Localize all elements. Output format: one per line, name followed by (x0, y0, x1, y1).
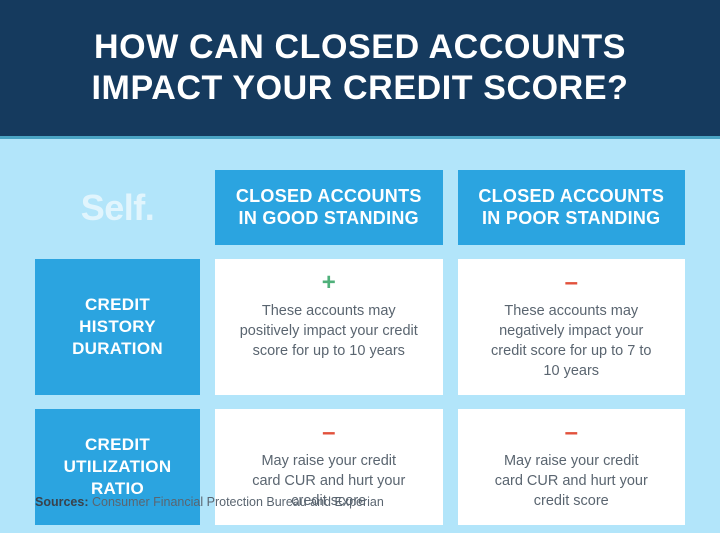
column-header-good-line-1: CLOSED ACCOUNTS (236, 186, 422, 208)
cell-r1c1-line-1: These accounts may (240, 301, 418, 321)
sources-label: Sources: (35, 495, 89, 509)
minus-icon: – (322, 421, 335, 445)
infographic-root: HOW CAN CLOSED ACCOUNTS IMPACT YOUR CRED… (0, 0, 720, 533)
banner-divider (0, 136, 720, 139)
table-header-row: Self. CLOSED ACCOUNTS IN GOOD STANDING C… (35, 170, 685, 245)
page-title: HOW CAN CLOSED ACCOUNTS IMPACT YOUR CRED… (68, 27, 653, 110)
cell-r1c2-line-2: negatively impact your (491, 321, 651, 341)
page-title-line-2: IMPACT YOUR CREDIT SCORE? (92, 68, 629, 109)
header-banner: HOW CAN CLOSED ACCOUNTS IMPACT YOUR CRED… (0, 0, 720, 136)
cell-r1c2-line-4: 10 years (491, 361, 651, 381)
column-header-poor-standing: CLOSED ACCOUNTS IN POOR STANDING (458, 170, 686, 245)
cell-history-poor-standing: – These accounts may negatively impact y… (458, 259, 686, 395)
column-header-good-line-2: IN GOOD STANDING (236, 208, 422, 230)
column-header-good-standing: CLOSED ACCOUNTS IN GOOD STANDING (215, 170, 443, 245)
minus-icon: – (565, 271, 578, 295)
table-row: CREDIT HISTORY DURATION + These accounts… (35, 259, 685, 395)
cell-history-good-standing: + These accounts may positively impact y… (215, 259, 443, 395)
cell-history-poor-standing-text: These accounts may negatively impact you… (491, 301, 651, 381)
cell-r2c2-line-2: card CUR and hurt your (495, 471, 648, 491)
brand-name: Self (81, 187, 145, 228)
cell-r2c2-line-1: May raise your credit (495, 451, 648, 471)
row-1-label-line-3: DURATION (72, 338, 163, 360)
cell-utilization-poor-standing-text: May raise your credit card CUR and hurt … (495, 451, 648, 511)
row-label-credit-history-duration-block: CREDIT HISTORY DURATION (35, 259, 200, 395)
row-2-label-line-2: UTILIZATION (64, 456, 172, 478)
column-header-poor-line-2: IN POOR STANDING (478, 208, 664, 230)
row-1-label-line-1: CREDIT (72, 294, 163, 316)
row-2-label-line-1: CREDIT (64, 434, 172, 456)
cell-utilization-poor-standing: – May raise your credit card CUR and hur… (458, 409, 686, 525)
cell-r2c1-line-2: card CUR and hurt your (252, 471, 405, 491)
cell-r1c2-line-3: credit score for up to 7 to (491, 341, 651, 361)
brand-logo: Self. (35, 170, 200, 245)
cell-r2c2-line-3: credit score (495, 491, 648, 511)
page-title-line-1: HOW CAN CLOSED ACCOUNTS (92, 27, 629, 68)
sources-footer: Sources: Consumer Financial Protection B… (35, 494, 384, 510)
cell-r1c2-line-1: These accounts may (491, 301, 651, 321)
cell-history-good-standing-text: These accounts may positively impact you… (240, 301, 418, 361)
column-header-poor-line-1: CLOSED ACCOUNTS (478, 186, 664, 208)
minus-icon: – (565, 421, 578, 445)
column-header-poor-standing-block: CLOSED ACCOUNTS IN POOR STANDING (458, 170, 686, 245)
cell-r1c1-line-3: score for up to 10 years (240, 341, 418, 361)
row-label-credit-history-duration: CREDIT HISTORY DURATION (35, 259, 200, 395)
cell-r1c1-line-2: positively impact your credit (240, 321, 418, 341)
row-1-cells: + These accounts may positively impact y… (215, 259, 685, 395)
row-1-label-line-2: HISTORY (72, 316, 163, 338)
brand-logo-text: Self. (81, 190, 155, 226)
column-header-good-standing-block: CLOSED ACCOUNTS IN GOOD STANDING (215, 170, 443, 245)
brand-dot: . (145, 187, 155, 228)
cell-r2c1-line-1: May raise your credit (252, 451, 405, 471)
table-header-cells: CLOSED ACCOUNTS IN GOOD STANDING CLOSED … (215, 170, 685, 245)
comparison-table: Self. CLOSED ACCOUNTS IN GOOD STANDING C… (35, 170, 685, 525)
plus-icon: + (322, 271, 336, 295)
sources-text: Consumer Financial Protection Bureau and… (92, 495, 384, 509)
